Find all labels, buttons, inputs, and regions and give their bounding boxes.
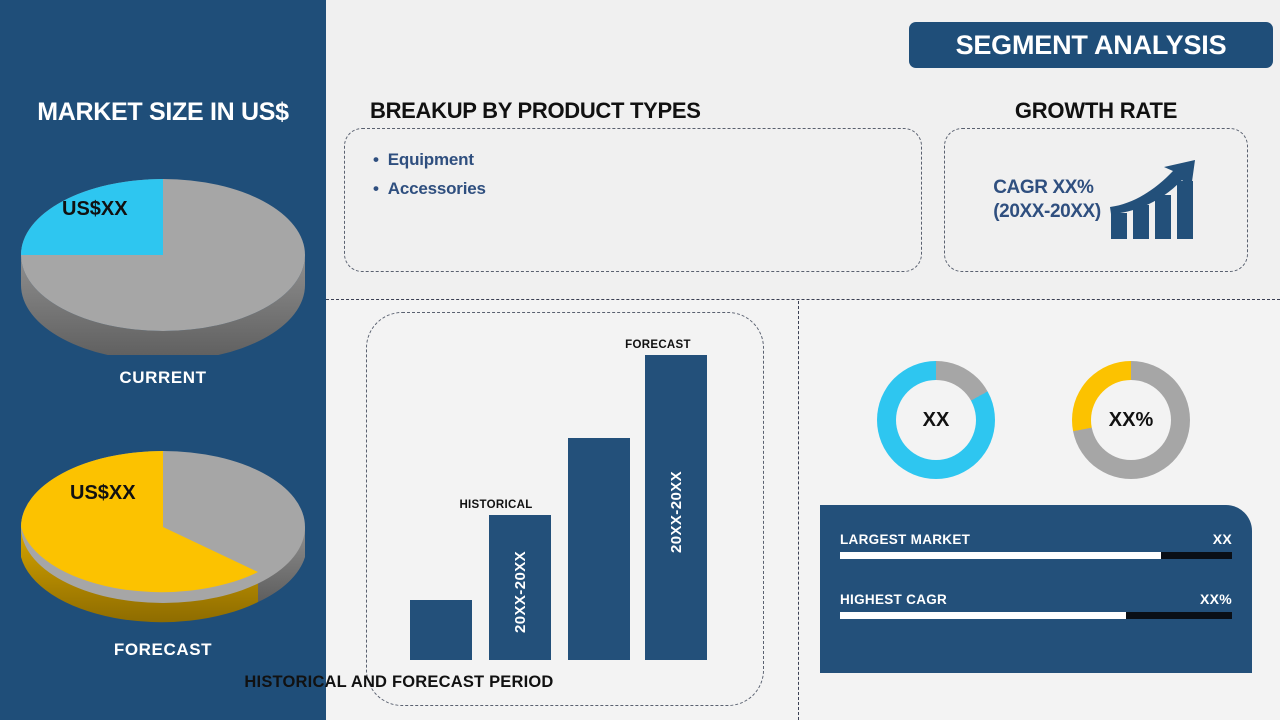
metric-head: LARGEST MARKET XX bbox=[840, 531, 1232, 547]
breakup-section-title: BREAKUP BY PRODUCT TYPES bbox=[370, 98, 701, 124]
donut-2-value: XX% bbox=[1109, 409, 1153, 432]
metric-fill bbox=[840, 612, 1126, 619]
market-size-sidebar: MARKET SIZE IN US$ US$XX CURRENT bbox=[0, 0, 326, 720]
breakup-item: Accessories bbox=[373, 174, 921, 203]
metric-track bbox=[840, 612, 1232, 619]
bar-4-period-label: 20XX-20XX bbox=[668, 463, 685, 553]
pie-forecast-caption: FORECAST bbox=[18, 640, 308, 660]
cagr-line1: CAGR XX% bbox=[993, 176, 1101, 200]
growth-section-title: GROWTH RATE bbox=[944, 98, 1248, 124]
pie-current-caption: CURRENT bbox=[18, 368, 308, 388]
metric-label: LARGEST MARKET bbox=[840, 532, 970, 547]
metric-value: XX% bbox=[1200, 591, 1232, 607]
cagr-text: CAGR XX% (20XX-20XX) bbox=[993, 176, 1101, 225]
bar-4: 20XX-20XX bbox=[645, 355, 707, 660]
growth-arrow-bars-icon bbox=[1107, 157, 1199, 243]
donut-chart-2: XX% bbox=[1072, 361, 1190, 479]
bar-2: 20XX-20XX bbox=[489, 515, 551, 660]
sidebar-title: MARKET SIZE IN US$ bbox=[0, 98, 326, 127]
pie-chart-forecast: US$XX FORECAST bbox=[18, 432, 308, 682]
metrics-panel: LARGEST MARKET XX HIGHEST CAGR XX% bbox=[820, 505, 1252, 673]
bar-3 bbox=[568, 438, 630, 660]
donut-2-hole: XX% bbox=[1091, 380, 1171, 460]
metric-head: HIGHEST CAGR XX% bbox=[840, 591, 1232, 607]
cagr-line2: (20XX-20XX) bbox=[993, 200, 1101, 224]
pie-forecast-svg bbox=[18, 432, 308, 627]
bar-2-period-label: 20XX-20XX bbox=[512, 543, 529, 633]
donut-1-value: XX bbox=[923, 409, 950, 432]
bar-annotation-historical: HISTORICAL bbox=[446, 499, 546, 511]
metric-value: XX bbox=[1213, 531, 1232, 547]
metric-highest-cagr: HIGHEST CAGR XX% bbox=[840, 591, 1232, 619]
metric-fill bbox=[840, 552, 1161, 559]
breakup-list-box: Equipment Accessories bbox=[344, 128, 922, 272]
pie-chart-current: US$XX CURRENT bbox=[18, 160, 308, 410]
growth-rate-box: CAGR XX% (20XX-20XX) bbox=[944, 128, 1248, 272]
bar-1 bbox=[410, 600, 472, 660]
donut-chart-1: XX bbox=[877, 361, 995, 479]
metric-label: HIGHEST CAGR bbox=[840, 592, 947, 607]
donut-1-hole: XX bbox=[896, 380, 976, 460]
historical-forecast-panel: HISTORICAL FORECAST 20XX-20XX 20XX-20XX bbox=[326, 300, 798, 720]
pie-current-svg bbox=[18, 160, 308, 355]
metric-largest-market: LARGEST MARKET XX bbox=[840, 531, 1232, 559]
bar-annotation-forecast: FORECAST bbox=[603, 339, 713, 351]
bar-chart-axis-label: HISTORICAL AND FORECAST PERIOD bbox=[0, 673, 798, 692]
header-band: SEGMENT ANALYSIS imarc IMPACTFUL INSIGHT… bbox=[326, 0, 1280, 92]
metric-track bbox=[840, 552, 1232, 559]
breakup-item: Equipment bbox=[373, 145, 921, 174]
page-title: SEGMENT ANALYSIS bbox=[909, 22, 1273, 68]
